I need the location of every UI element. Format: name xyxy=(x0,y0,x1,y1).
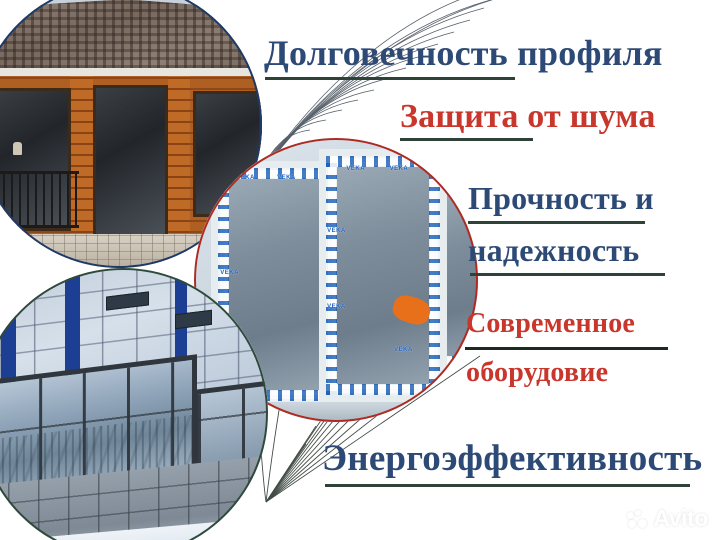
house-balcony-railing xyxy=(0,171,79,228)
veka-logo-text: VEKA xyxy=(327,228,346,234)
headline-reliability: надежность xyxy=(468,232,639,269)
veka-logo-text: VEKA xyxy=(346,166,365,172)
underline-strength xyxy=(468,221,645,224)
veka-logo-text: VEKA xyxy=(394,347,413,353)
veka-logo-text: VEKA xyxy=(390,166,409,172)
house-window xyxy=(93,85,168,240)
house-roof xyxy=(0,0,262,76)
veka-logo-text: VEKA xyxy=(277,175,296,181)
avito-dots-logo-icon xyxy=(627,510,649,528)
veka-film-strip xyxy=(326,156,337,395)
veka-film-strip xyxy=(429,156,440,395)
advertisement-banner: VEKA VEKA VEKA VEKA VEKA VEKA VEKA VEKA … xyxy=(0,0,720,540)
veka-film-strip xyxy=(326,384,440,395)
house-wall-lamp xyxy=(13,142,22,155)
window-glass xyxy=(332,162,434,389)
photo-facade xyxy=(0,268,268,540)
underline-durability xyxy=(265,77,515,80)
underline-noise-protection xyxy=(400,138,533,141)
headline-durability: Долговечность профиля xyxy=(264,32,663,74)
house-corner-post xyxy=(168,76,191,242)
headline-strength: Прочность и xyxy=(468,180,654,217)
headline-energy-efficiency: Энергоэффективность xyxy=(322,437,702,480)
avito-watermark: Avito xyxy=(627,505,708,532)
underline-reliability xyxy=(470,273,665,276)
headline-equipment-line2: оборудовие xyxy=(466,357,608,389)
avito-brand-text: Avito xyxy=(653,505,708,532)
pvc-window-unit: VEKA VEKA VEKA VEKA VEKA xyxy=(319,149,447,402)
headline-modern-equipment: Современное xyxy=(466,308,635,340)
veka-film-strip xyxy=(326,156,440,167)
veka-logo-text: VEKA xyxy=(327,304,346,310)
underline-modern-equipment xyxy=(465,347,668,350)
underline-energy-efficiency xyxy=(325,484,690,487)
veka-logo-text: VEKA xyxy=(236,175,255,181)
headline-noise-protection: Защита от шума xyxy=(400,98,656,136)
